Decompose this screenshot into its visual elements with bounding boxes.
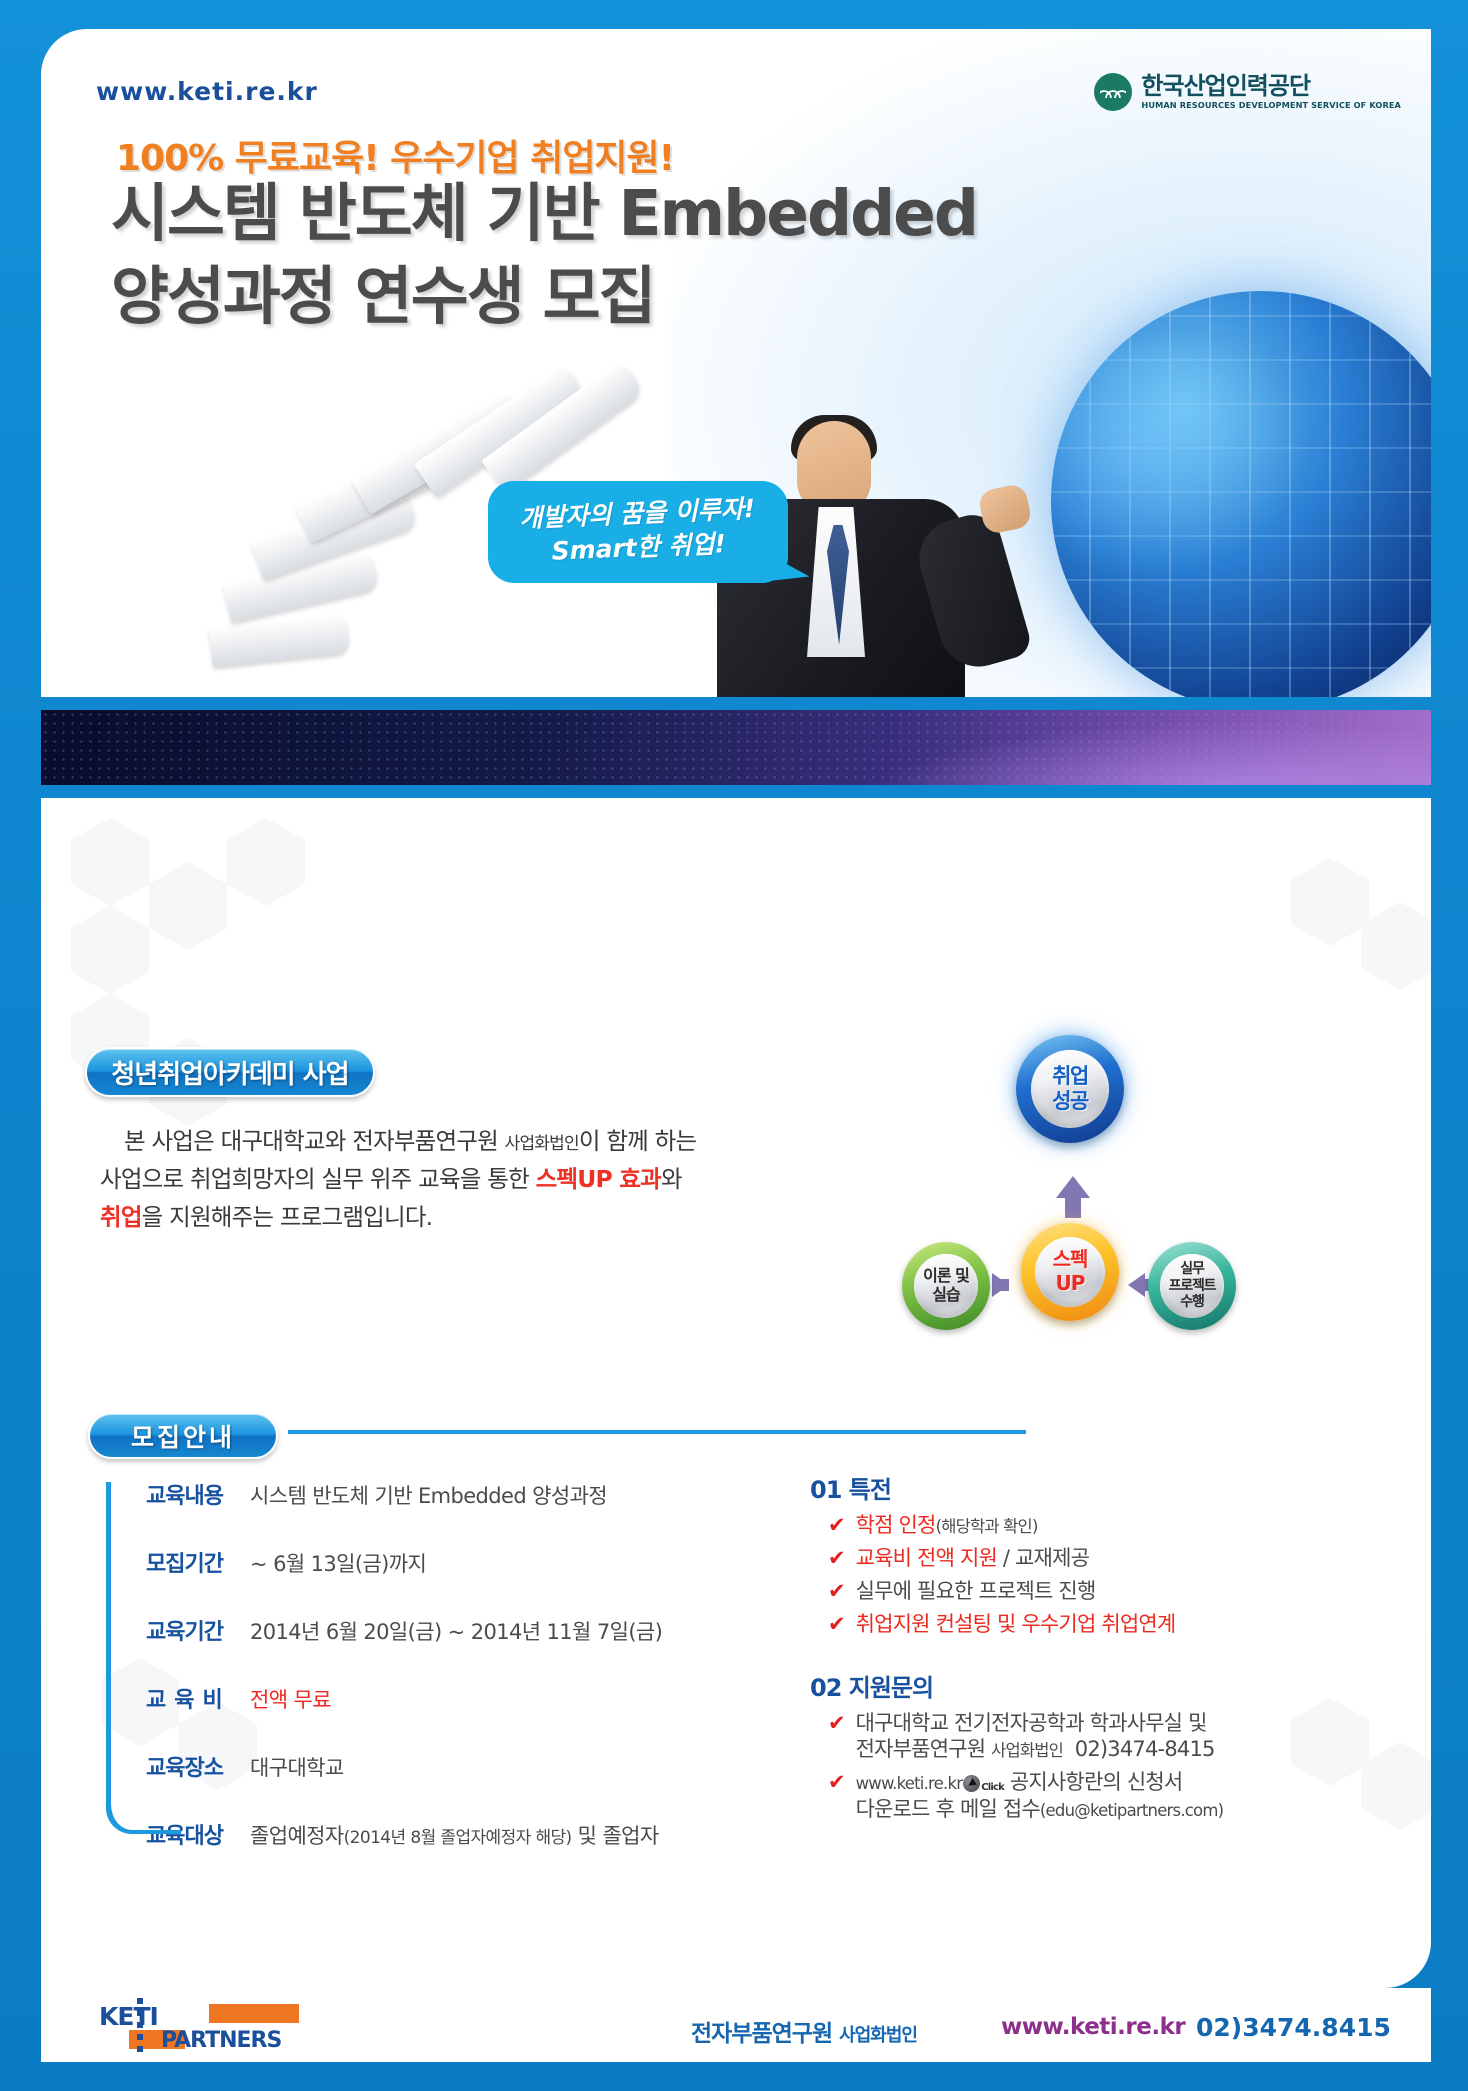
- flow-node-success-inner: 취업 성공: [1031, 1050, 1109, 1128]
- flow-spec-line1: 스펙: [1053, 1248, 1088, 1272]
- footer-telephone[interactable]: 02)3474.8415: [1196, 2013, 1391, 2042]
- flow-project-line2: 프로젝트: [1169, 1278, 1216, 1295]
- agency-logo-korean: 한국산업인력공단: [1141, 74, 1401, 99]
- agency-logo: 한국산업인력공단 HUMAN RESOURCES DEVELOPMENT SER…: [1094, 73, 1401, 111]
- hero-panel: www.keti.re.kr 한국산업인력공단 HUMAN RESOURCES …: [41, 29, 1431, 697]
- flow-node-project-inner: 실무 프로젝트 수행: [1160, 1254, 1223, 1317]
- program-intro: 본 사업은 대구대학교와 전자부품연구원 사업화법인이 함께 하는 사업으로 취…: [100, 1122, 780, 1236]
- target-small: (2014년 8월 졸업자예정자 해당): [344, 1828, 572, 1848]
- flow-diagram: 취업 성공 스펙 UP 이론 및 실습: [920, 1035, 1260, 1365]
- footer-org-main: 전자부품연구원: [691, 2021, 839, 2047]
- flow-node-spec-inner: 스펙 UP: [1035, 1237, 1106, 1308]
- globe-graphic: [1051, 291, 1431, 697]
- keti-partners-logo: KETI PARTNERS: [99, 1996, 299, 2052]
- footer-url[interactable]: www.keti.re.kr: [1001, 2014, 1185, 2040]
- flow-spec-line2: UP: [1053, 1272, 1088, 1296]
- flow-arrow-up-icon: [1056, 1176, 1090, 1198]
- agency-logo-text: 한국산업인력공단 HUMAN RESOURCES DEVELOPMENT SER…: [1141, 74, 1401, 110]
- flow-node-theory: 이론 및 실습: [902, 1242, 990, 1330]
- recruit-badge: 모집안내: [88, 1412, 278, 1459]
- intro-highlight-spec: 스펙UP 효과: [536, 1165, 661, 1193]
- flow-node-project: 실무 프로젝트 수행: [1148, 1242, 1236, 1330]
- intro-p2a: 사업으로 취업희망자의 실무 위주 교육을 통한: [100, 1165, 536, 1193]
- footer: KETI PARTNERS 전자부품연구원 사업화법인 www.keti.re.…: [41, 1988, 1431, 2062]
- flow-project-line1: 실무: [1169, 1261, 1216, 1278]
- contact-notice: 공지사항란의 신청서: [1010, 1770, 1183, 1794]
- agency-logo-mark-icon: [1094, 73, 1132, 111]
- contact-phone[interactable]: 02)3474-8415: [1075, 1737, 1215, 1761]
- logo-bar-top: [209, 2004, 299, 2023]
- decorative-strip: [41, 710, 1431, 785]
- intro-p1b: 이 함께 하는: [579, 1127, 696, 1155]
- intro-p1a: 본 사업은 대구대학교와 전자부품연구원: [124, 1127, 505, 1155]
- footer-org-small: 사업화법인: [839, 2025, 917, 2046]
- agency-logo-english: HUMAN RESOURCES DEVELOPMENT SERVICE OF K…: [1141, 101, 1401, 110]
- flow-node-spec: 스펙 UP: [1021, 1223, 1119, 1321]
- flow-success-line1: 취업: [1052, 1064, 1088, 1089]
- flow-node-success: 취업 성공: [1016, 1035, 1124, 1143]
- recruit-infobox: [106, 1430, 1026, 1830]
- flow-arrow-right-icon: [992, 1273, 1009, 1297]
- intro-p3b: 을 지원해주는 프로그램입니다.: [142, 1203, 433, 1231]
- flow-project-line3: 수행: [1169, 1294, 1216, 1311]
- contact-email[interactable]: (edu@ketipartners.com): [1040, 1801, 1223, 1820]
- logo-keti-text: KETI: [99, 2002, 158, 2031]
- footer-organization: 전자부품연구원 사업화법인: [691, 2014, 917, 2048]
- flow-node-theory-inner: 이론 및 실습: [914, 1254, 977, 1317]
- speech-bubble: 개발자의 꿈을 이루자! Smart한 취업!: [488, 481, 788, 583]
- flow-success-line2: 성공: [1052, 1089, 1088, 1114]
- hero-title: 시스템 반도체 기반 Embedded 양성과정 연수생 모집: [111, 172, 977, 338]
- speech-bubble-text: 개발자의 꿈을 이루자! Smart한 취업!: [486, 475, 790, 590]
- intro-p1-small: 사업화법인: [505, 1134, 579, 1154]
- hero-title-line1: 시스템 반도체 기반 Embedded: [111, 172, 977, 255]
- hero-title-line2: 양성과정 연수생 모집: [111, 255, 977, 338]
- flow-theory-line1: 이론 및: [923, 1267, 969, 1286]
- intro-p2b: 와: [661, 1165, 682, 1193]
- header-url[interactable]: www.keti.re.kr: [96, 77, 318, 106]
- poster-root: www.keti.re.kr 한국산업인력공단 HUMAN RESOURCES …: [0, 0, 1468, 2091]
- intro-highlight-job: 취업: [100, 1203, 142, 1231]
- flow-theory-line2: 실습: [923, 1286, 969, 1305]
- logo-partners-text: PARTNERS: [161, 2028, 281, 2053]
- program-badge: 청년취업아카데미 사업: [85, 1047, 375, 1097]
- flow-arrow-left-icon: [1128, 1273, 1145, 1297]
